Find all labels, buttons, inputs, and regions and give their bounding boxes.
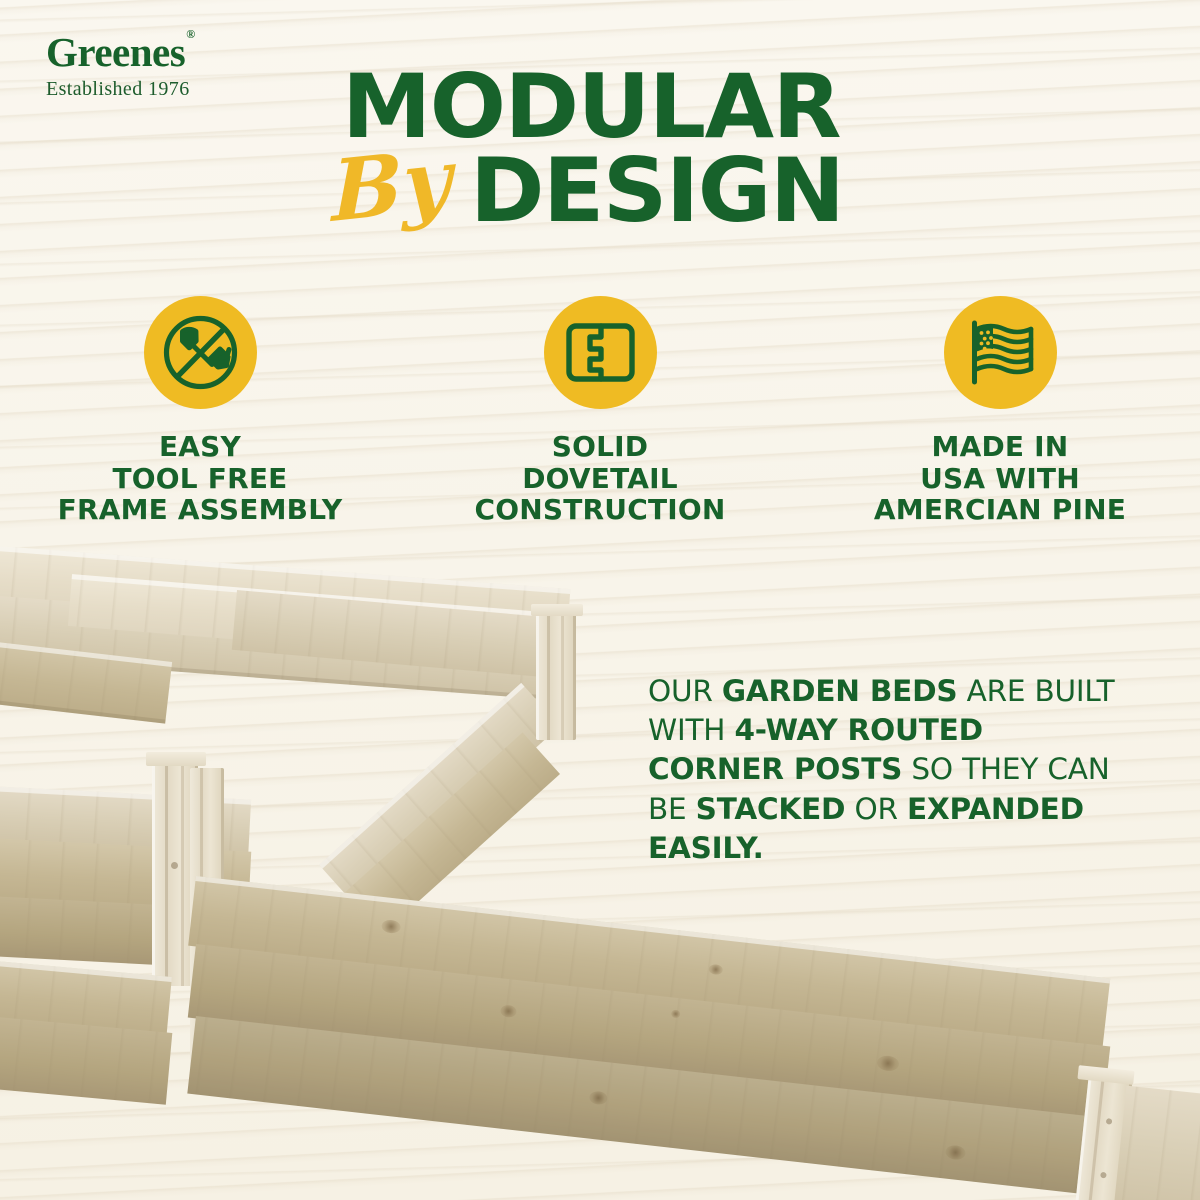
body-text: OUR (648, 674, 722, 708)
feature-easy-tool-free-assembly: EASY TOOL FREE FRAME ASSEMBLY (0, 296, 400, 526)
brand-logo: Greenes® Established 1976 (46, 32, 194, 101)
feature-badge (944, 296, 1057, 409)
description-block: OUR GARDEN BEDS ARE BUILT WITH 4-WAY ROU… (648, 672, 1128, 868)
brand-wordmark: Greenes® (46, 32, 194, 73)
feature-badge (544, 296, 657, 409)
corner-post (536, 608, 576, 740)
dovetail-joint-icon (544, 296, 657, 409)
headline: MODULAR By DESIGN (330, 66, 910, 256)
no-tools-icon (144, 296, 257, 409)
feature-row: EASY TOOL FREE FRAME ASSEMBLY SOLID DOVE… (0, 296, 1200, 526)
marketing-graphic: Greenes® Established 1976 MODULAR By DES… (0, 0, 1200, 1200)
brand-name: Greenes (46, 29, 185, 75)
headline-line-2: DESIGN (470, 150, 843, 233)
feature-label: SOLID DOVETAIL CONSTRUCTION (474, 431, 725, 526)
feature-label: EASY TOOL FREE FRAME ASSEMBLY (58, 431, 343, 526)
feature-label: MADE IN USA WITH AMERCIAN PINE (874, 431, 1126, 526)
feature-solid-dovetail-construction: SOLID DOVETAIL CONSTRUCTION (400, 296, 800, 526)
feature-badge (144, 296, 257, 409)
emphasis-text: GARDEN BEDS (722, 674, 958, 708)
headline-script-word: By (332, 137, 451, 234)
brand-tagline: Established 1976 (46, 78, 194, 101)
usa-flag-icon (944, 296, 1057, 409)
description-text: OUR GARDEN BEDS ARE BUILT WITH 4-WAY ROU… (648, 672, 1128, 868)
body-text: OR (845, 792, 907, 826)
feature-made-in-usa: MADE IN USA WITH AMERCIAN PINE (800, 296, 1200, 526)
emphasis-text: STACKED (696, 792, 846, 826)
registered-trademark-icon: ® (186, 27, 194, 41)
